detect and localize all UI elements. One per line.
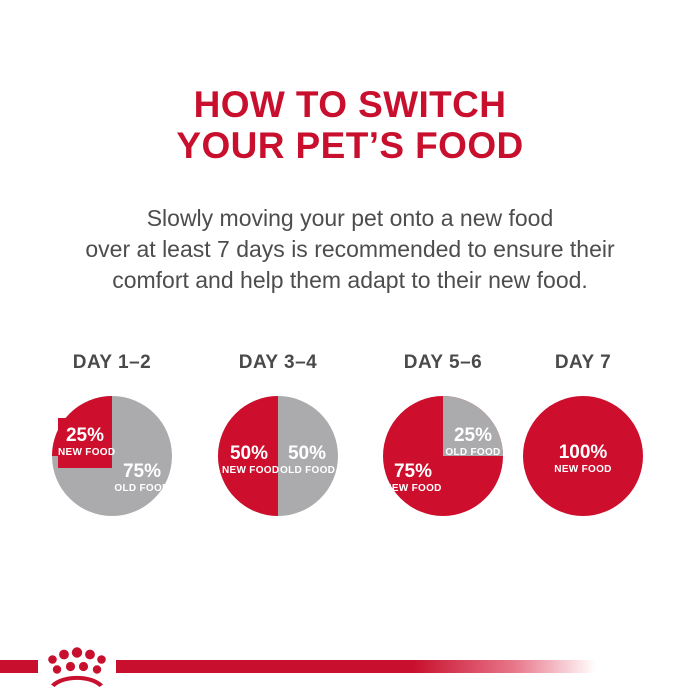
pie-chart-day-7: 100% NEW FOOD: [523, 396, 643, 516]
day-label-3: DAY 5–6: [363, 352, 523, 374]
pie-chart-row: DAY 1–2 25% NEW FOOD 75% OLD FOOD DAY 3–…: [0, 352, 700, 532]
slice-label-old-food-2: 50% OLD FOOD: [280, 444, 334, 477]
slice-label-new-food-3: 75% NEW FOOD: [383, 462, 443, 495]
slice-who-new-1: NEW FOOD: [58, 446, 112, 459]
royal-canin-crown-icon: [42, 643, 112, 688]
chart-group-day-3-4: DAY 3–4 50% NEW FOOD 50% OLD FOOD: [198, 352, 358, 516]
slice-label-new-food-4: 100% NEW FOOD: [548, 443, 618, 476]
body-line-2: over at least 7 days is recommended to e…: [0, 234, 700, 265]
slice-who-new-4: NEW FOOD: [548, 463, 618, 476]
title-line-2: YOUR PET’S FOOD: [0, 125, 700, 166]
slice-who-old-3: OLD FOOD: [445, 446, 501, 459]
pie-chart-day-5-6: 25% OLD FOOD 75% NEW FOOD: [383, 396, 503, 516]
chart-group-day-1-2: DAY 1–2 25% NEW FOOD 75% OLD FOOD: [32, 352, 192, 516]
slice-pct-old-3: 25%: [445, 426, 501, 445]
day-label-1: DAY 1–2: [32, 352, 192, 374]
slice-who-old-1: OLD FOOD: [114, 482, 170, 495]
day-label-4: DAY 7: [503, 352, 663, 374]
pie-chart-day-1-2: 25% NEW FOOD 75% OLD FOOD: [52, 396, 172, 516]
footer-bar-left: [0, 660, 38, 673]
page-title: HOW TO SWITCH YOUR PET’S FOOD: [0, 84, 700, 166]
slice-pct-new-4: 100%: [548, 443, 618, 462]
title-line-1: HOW TO SWITCH: [0, 84, 700, 125]
chart-group-day-5-6: DAY 5–6 25% OLD FOOD 75% NEW FOOD: [363, 352, 523, 516]
slice-who-old-2: OLD FOOD: [280, 464, 334, 477]
slice-label-old-food-1: 75% OLD FOOD: [114, 462, 170, 495]
slice-pct-old-2: 50%: [280, 444, 334, 463]
slice-who-new-3: NEW FOOD: [383, 482, 443, 495]
footer: [0, 655, 700, 700]
day-label-2: DAY 3–4: [198, 352, 358, 374]
slice-who-new-2: NEW FOOD: [222, 464, 276, 477]
body-line-1: Slowly moving your pet onto a new food: [0, 203, 700, 234]
slice-pct-new-1: 25%: [58, 426, 112, 445]
slice-pct-old-1: 75%: [114, 462, 170, 481]
footer-bar-right: [116, 660, 596, 673]
slice-label-new-food-2: 50% NEW FOOD: [222, 444, 276, 477]
body-paragraph: Slowly moving your pet onto a new food o…: [0, 203, 700, 296]
slice-pct-new-2: 50%: [222, 444, 276, 463]
pie-chart-day-3-4: 50% NEW FOOD 50% OLD FOOD: [218, 396, 338, 516]
slice-pct-new-3: 75%: [383, 462, 443, 481]
infographic-canvas: HOW TO SWITCH YOUR PET’S FOOD Slowly mov…: [0, 0, 700, 700]
slice-label-old-food-3: 25% OLD FOOD: [445, 418, 501, 468]
slice-label-new-food-1: 25% NEW FOOD: [58, 418, 112, 468]
body-line-3: comfort and help them adapt to their new…: [0, 265, 700, 296]
chart-group-day-7: DAY 7 100% NEW FOOD: [503, 352, 663, 516]
